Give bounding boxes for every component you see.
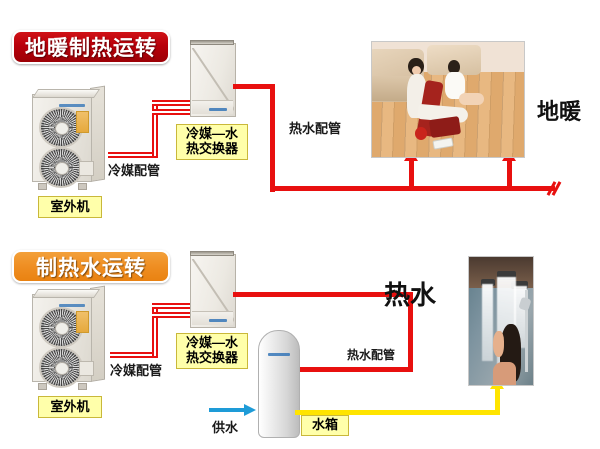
hot-water-pipe-vertical bbox=[270, 84, 275, 192]
hot-water-pipe-return-to-tank bbox=[283, 367, 413, 372]
label-outdoor-unit-hot-water: 室外机 bbox=[38, 396, 102, 418]
label-refrigerant-piping-hot-water: 冷媒配管 bbox=[110, 360, 162, 379]
outdoor-unit-body bbox=[32, 294, 92, 382]
heat-exchanger-top-cap bbox=[190, 40, 234, 45]
label-water-supply: 供水 bbox=[212, 417, 238, 436]
photo-floor-heating-room bbox=[371, 41, 525, 158]
outdoor-unit-foot-left bbox=[38, 183, 47, 190]
heat-exchanger-top-cap bbox=[190, 251, 234, 256]
heat-exchanger-body bbox=[190, 43, 236, 117]
outdoor-unit-top bbox=[32, 89, 100, 98]
refrigerant-pipe-vertical-2 bbox=[152, 303, 158, 356]
heat-exchanger-body bbox=[190, 254, 236, 328]
outdoor-unit-foot-left bbox=[38, 383, 47, 390]
tank-outlet-pipe-horizontal bbox=[295, 410, 500, 415]
section-badge-floor-heating: 地暖制热运转 bbox=[12, 30, 170, 64]
outdoor-unit-foot-right bbox=[78, 383, 87, 390]
label-heat-exchanger-hot-water: 冷媒—水 热交换器 bbox=[176, 333, 248, 369]
brand-logo-icon bbox=[209, 108, 227, 111]
section-badge-hot-water: 制热水运转 bbox=[12, 250, 170, 283]
photo-shower bbox=[468, 256, 534, 386]
floor-riser-pipe-right bbox=[507, 160, 512, 188]
label-outdoor-unit-floor-heating: 室外机 bbox=[38, 196, 102, 218]
label-heat-exchanger-floor-heating: 冷媒—水 热交换器 bbox=[176, 124, 248, 160]
outdoor-unit-body bbox=[32, 94, 92, 182]
floor-riser-pipe-left bbox=[409, 160, 414, 188]
heat-exchanger-unit-hot-water bbox=[190, 251, 236, 331]
unit-badge-icon bbox=[76, 111, 89, 133]
fan-grille-bottom-icon bbox=[39, 347, 83, 388]
heat-exchanger-unit-floor-heating bbox=[190, 40, 236, 120]
outdoor-unit-floor-heating bbox=[32, 88, 106, 186]
refrigerant-pipe-horizontal-bottom bbox=[108, 152, 158, 158]
water-supply-line bbox=[209, 408, 245, 412]
label-hot-water-piping-hot-water: 热水配管 bbox=[347, 346, 395, 363]
label-water-tank: 水箱 bbox=[301, 415, 349, 436]
hot-water-pipe-top-segment bbox=[233, 84, 275, 89]
fan-grille-bottom-icon bbox=[39, 147, 83, 188]
service-panel-icon bbox=[79, 361, 94, 376]
label-destination-hot-water: 热水 bbox=[384, 275, 436, 312]
brand-logo-icon bbox=[209, 319, 227, 322]
refrigerant-pipe-horizontal-bottom-2 bbox=[110, 352, 158, 358]
outdoor-unit-top bbox=[32, 289, 100, 298]
pipe-break-mark-icon bbox=[548, 181, 562, 197]
label-destination-floor-heating: 地暖 bbox=[537, 94, 581, 126]
brand-logo-icon bbox=[268, 353, 290, 356]
heat-exchanger-panel bbox=[192, 100, 233, 114]
water-supply-arrow-icon bbox=[244, 404, 256, 416]
unit-badge-icon bbox=[76, 311, 89, 333]
outdoor-unit-foot-right bbox=[78, 183, 87, 190]
label-refrigerant-piping-floor-heating: 冷媒配管 bbox=[108, 160, 160, 179]
label-hot-water-piping-floor-heating: 热水配管 bbox=[289, 118, 341, 137]
diagram-canvas: 地暖制热运转 室外机 冷媒配管 冷媒—水 热交换器 bbox=[0, 0, 600, 449]
water-tank bbox=[258, 330, 300, 438]
tank-outlet-pipe-vertical bbox=[495, 388, 500, 414]
service-panel-icon bbox=[79, 161, 94, 176]
heat-exchanger-panel bbox=[192, 311, 233, 325]
water-tank-body bbox=[258, 330, 300, 438]
outdoor-unit-hot-water bbox=[32, 288, 106, 386]
